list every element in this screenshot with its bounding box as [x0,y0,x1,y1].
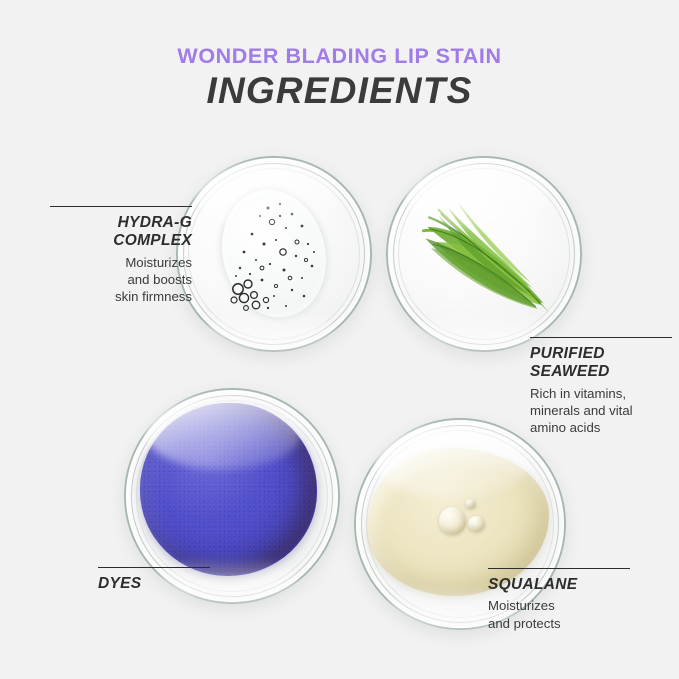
petri-dish-hydra-g-complex [176,156,372,352]
callout-description: Moisturizes and protects [488,597,638,632]
callout-description: Rich in vitamins, minerals and vital ami… [530,385,672,437]
seaweed-graphic [410,187,563,324]
callout-title: DYES [98,575,218,593]
gel-bubbles-graphic [176,156,372,352]
oil-droplet-small [465,499,476,510]
callout-title: HYDRA-G COMPLEX [50,214,192,251]
callout-leader-line [530,337,672,338]
callout-title: PURIFIED SEAWEED [530,345,672,382]
callout-dyes: DYES [98,567,218,596]
dye-powder-content [140,403,317,576]
callout-leader-line [98,567,210,568]
callout-leader-line [50,206,192,207]
callout-description: Moisturizes and boosts skin firmness [50,254,192,306]
oil-droplet-large [439,507,467,535]
kicker-title: WONDER BLADING LIP STAIN [0,44,679,69]
page-title: INGREDIENTS [0,70,679,112]
callout-squalane: SQUALANE Moisturizes and protects [488,568,638,632]
ingredients-infographic: WONDER BLADING LIP STAIN INGREDIENTS [0,0,679,679]
callout-title: SQUALANE [488,576,638,594]
petri-dish-purified-seaweed [386,156,582,352]
callout-hydra-g-complex: HYDRA-G COMPLEX Moisturizes and boosts s… [50,206,192,306]
callout-purified-seaweed: PURIFIED SEAWEED Rich in vitamins, miner… [530,337,672,437]
callout-leader-line [488,568,630,569]
